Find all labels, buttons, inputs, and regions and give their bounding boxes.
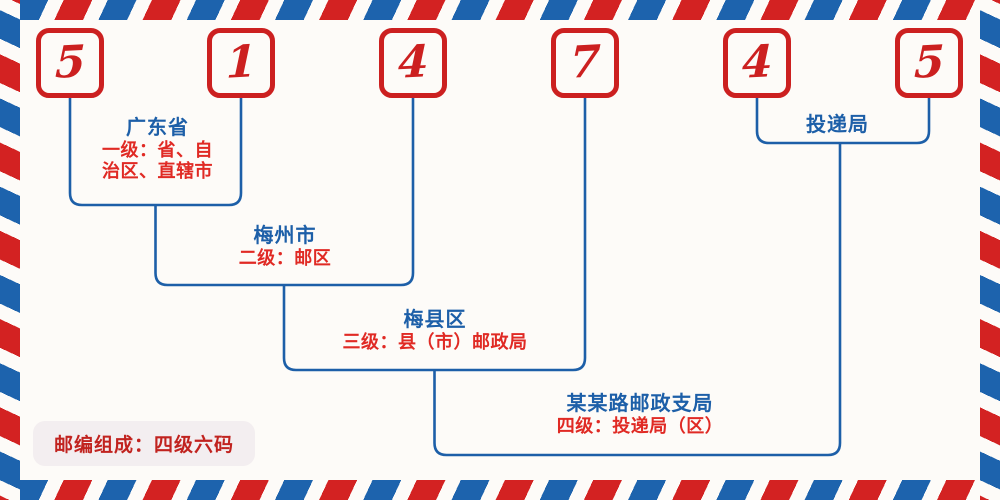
label-level-2-sub-line1: 二级：邮区 bbox=[239, 248, 332, 269]
digit-glyph: 1 bbox=[225, 40, 256, 86]
label-level-1: 广东省 一级：省、自 治区、直辖市 bbox=[85, 116, 230, 182]
digit-glyph: 4 bbox=[741, 40, 772, 86]
airmail-stripe-icon bbox=[0, 0, 1000, 20]
label-level-4-sub: 四级：投递局（区） bbox=[530, 417, 750, 437]
postcode-composition-badge: 邮编组成：四级六码 bbox=[33, 421, 255, 466]
digit-glyph: 5 bbox=[913, 40, 944, 86]
label-level-4: 某某路邮政支局 四级：投递局（区） bbox=[530, 392, 750, 438]
digit-glyph: 5 bbox=[54, 40, 85, 86]
label-level-3-title: 梅县区 bbox=[320, 308, 550, 330]
airmail-stripe-icon bbox=[980, 0, 1000, 500]
label-delivery-branch-title: 投递局 bbox=[806, 112, 869, 136]
postcode-digit-4[interactable]: 7 bbox=[551, 28, 619, 98]
label-delivery-branch: 投递局 bbox=[806, 108, 869, 137]
digit-glyph: 7 bbox=[569, 40, 600, 86]
airmail-stripe-icon bbox=[0, 480, 1000, 500]
label-level-3-sub: 三级：县（市）邮政局 bbox=[320, 333, 550, 353]
label-level-1-title: 广东省 bbox=[85, 116, 230, 138]
label-level-2: 梅州市 二级：邮区 bbox=[200, 224, 370, 270]
label-level-4-sub-line1: 四级：投递局（区） bbox=[557, 416, 724, 437]
postcode-digit-3[interactable]: 4 bbox=[379, 28, 447, 98]
digit-glyph: 4 bbox=[397, 40, 428, 86]
label-level-2-sub: 二级：邮区 bbox=[200, 249, 370, 269]
postcode-digit-5[interactable]: 4 bbox=[723, 28, 791, 98]
postcode-digit-1[interactable]: 5 bbox=[36, 28, 104, 98]
airmail-border-right bbox=[980, 0, 1000, 500]
label-level-3-sub-line1: 三级：县（市）邮政局 bbox=[343, 332, 528, 353]
label-level-3: 梅县区 三级：县（市）邮政局 bbox=[320, 308, 550, 354]
label-level-4-title: 某某路邮政支局 bbox=[530, 392, 750, 414]
airmail-border-bottom bbox=[0, 480, 1000, 500]
label-level-1-sub: 一级：省、自 治区、直辖市 bbox=[85, 141, 230, 181]
postcode-composition-badge-text: 邮编组成：四级六码 bbox=[54, 430, 234, 457]
airmail-border-top bbox=[0, 0, 1000, 20]
postcode-digit-2[interactable]: 1 bbox=[207, 28, 275, 98]
postcode-diagram: 5 1 4 7 4 5 投递局 广东省 一级：省、自 治区、直辖市 梅州市 二级… bbox=[0, 0, 1000, 500]
label-level-2-title: 梅州市 bbox=[200, 224, 370, 246]
label-level-1-sub-line1: 一级：省、自 bbox=[102, 140, 213, 161]
airmail-stripe-icon bbox=[0, 0, 20, 500]
airmail-border-left bbox=[0, 0, 20, 500]
postcode-digit-6[interactable]: 5 bbox=[895, 28, 963, 98]
label-level-1-sub-line2: 治区、直辖市 bbox=[85, 162, 230, 182]
